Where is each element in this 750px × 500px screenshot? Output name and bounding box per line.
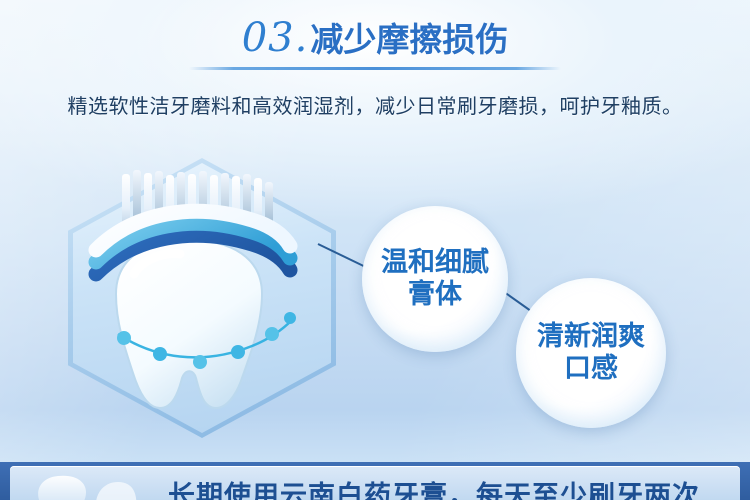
feature-bubble-2: 清新润爽 口感 — [516, 278, 666, 428]
title-divider — [189, 67, 561, 70]
section-number: 03. — [242, 18, 309, 58]
page-title: 03. 减少摩擦损伤 — [232, 18, 519, 64]
tooth-icon — [76, 182, 328, 432]
section-subtitle: 精选软性洁牙磨料和高效润湿剂，减少日常刷牙磨损，呵护牙釉质。 — [0, 90, 750, 119]
feature-bubble-1-line2: 膏体 — [381, 279, 489, 311]
feature-bubble-2-line2: 口感 — [537, 353, 645, 385]
feature-bubble-1-line1: 温和细腻 — [381, 247, 489, 279]
promo-page: 03. 减少摩擦损伤 精选软性洁牙磨料和高效润湿剂，减少日常刷牙磨损，呵护牙釉质… — [0, 0, 750, 500]
banner-tooth-icon — [24, 470, 144, 500]
section-title: 减少摩擦损伤 — [310, 23, 508, 56]
feature-bubble-1: 温和细腻 膏体 — [362, 206, 508, 352]
feature-bubble-2-line1: 清新润爽 — [537, 321, 645, 353]
bottom-banner-text: 长期使用云南白药牙膏，每天至少刷牙两次 — [168, 474, 728, 500]
hexagon-illustration — [68, 158, 336, 438]
header: 03. 减少摩擦损伤 精选软性洁牙磨料和高效润湿剂，减少日常刷牙磨损，呵护牙釉质… — [0, 18, 750, 119]
